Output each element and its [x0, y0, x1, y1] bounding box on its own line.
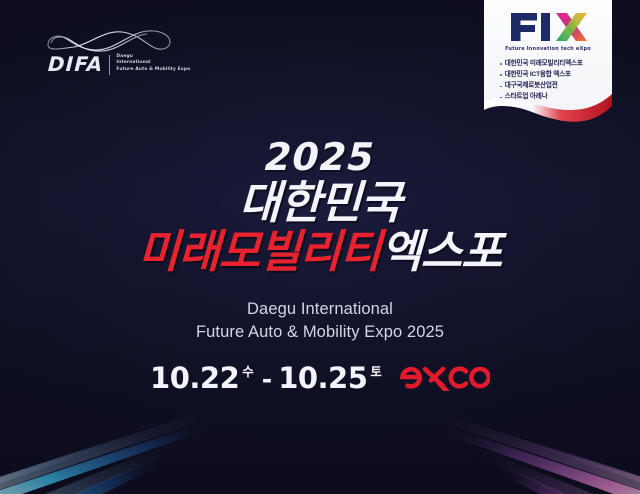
title-expo-text: 엑스포 [380, 225, 503, 278]
list-item: 스타트업 아레나 [500, 94, 583, 101]
blue-streak-group [0, 408, 228, 494]
expo-poster: DIFA Daegu International Future Auto & M… [0, 0, 640, 494]
event-date-row: 10.22 수 - 10.25 토 [0, 358, 640, 393]
bullet-dot-icon [500, 63, 502, 65]
title-mobility-text: 미래모빌리티 [137, 225, 381, 278]
difa-wordmark-row: DIFA Daegu International Future Auto & M… [48, 54, 190, 75]
bullet-dot-icon [500, 86, 502, 88]
date-start-weekday: 수 [242, 366, 254, 379]
list-item: 대한민국 미래모빌리티엑스포 [500, 61, 583, 68]
fix-item-label: 대한민국 ICT융합 엑스포 [505, 72, 571, 79]
difa-divider [109, 55, 110, 75]
poster-title-block: 2025 대한민국 미래모빌리티엑스포 [0, 138, 640, 276]
date-end-weekday: 토 [370, 366, 382, 379]
poster-subtitle: Daegu International Future Auto & Mobili… [0, 298, 640, 345]
fix-badge-content: Future Innovation tech eXpo 대한민국 미래모빌리티엑… [484, 0, 612, 128]
difa-tagline-line-3: Future Auto & Mobility Expo [116, 67, 190, 73]
title-line-mobility-expo: 미래모빌리티엑스포 [0, 229, 640, 276]
fix-expo-list: 대한민국 미래모빌리티엑스포 대한민국 ICT융합 엑스포 대구국제로봇산업전 … [496, 61, 583, 101]
fix-item-label: 스타트업 아레나 [505, 94, 548, 101]
bullet-dot-icon [500, 97, 502, 99]
date-end: 10.25 [278, 364, 367, 393]
title-year: 2025 [264, 138, 375, 176]
fix-item-label: 대한민국 미래모빌리티엑스포 [505, 61, 583, 68]
list-item: 대한민국 ICT융합 엑스포 [500, 72, 583, 79]
magenta-streak-group [418, 410, 640, 494]
difa-tagline: Daegu International Future Auto & Mobili… [116, 54, 190, 73]
exco-venue-logo [398, 361, 490, 391]
difa-wordmark: DIFA [47, 54, 103, 74]
fix-badge: Future Innovation tech eXpo 대한민국 미래모빌리티엑… [484, 0, 612, 128]
subtitle-line-1: Daegu International [0, 298, 640, 321]
date-separator: - [262, 367, 272, 392]
list-item: 대구국제로봇산업전 [500, 83, 583, 90]
date-start: 10.22 [150, 364, 239, 393]
fix-logo-icon [507, 10, 589, 44]
bullet-dot-icon [500, 74, 502, 76]
fix-tagline: Future Innovation tech eXpo [505, 46, 591, 52]
fix-item-label: 대구국제로봇산업전 [505, 83, 558, 90]
difa-logo: DIFA Daegu International Future Auto & M… [46, 26, 180, 78]
title-line-korea: 대한민국 [0, 180, 640, 227]
subtitle-line-2: Future Auto & Mobility Expo 2025 [0, 321, 640, 344]
